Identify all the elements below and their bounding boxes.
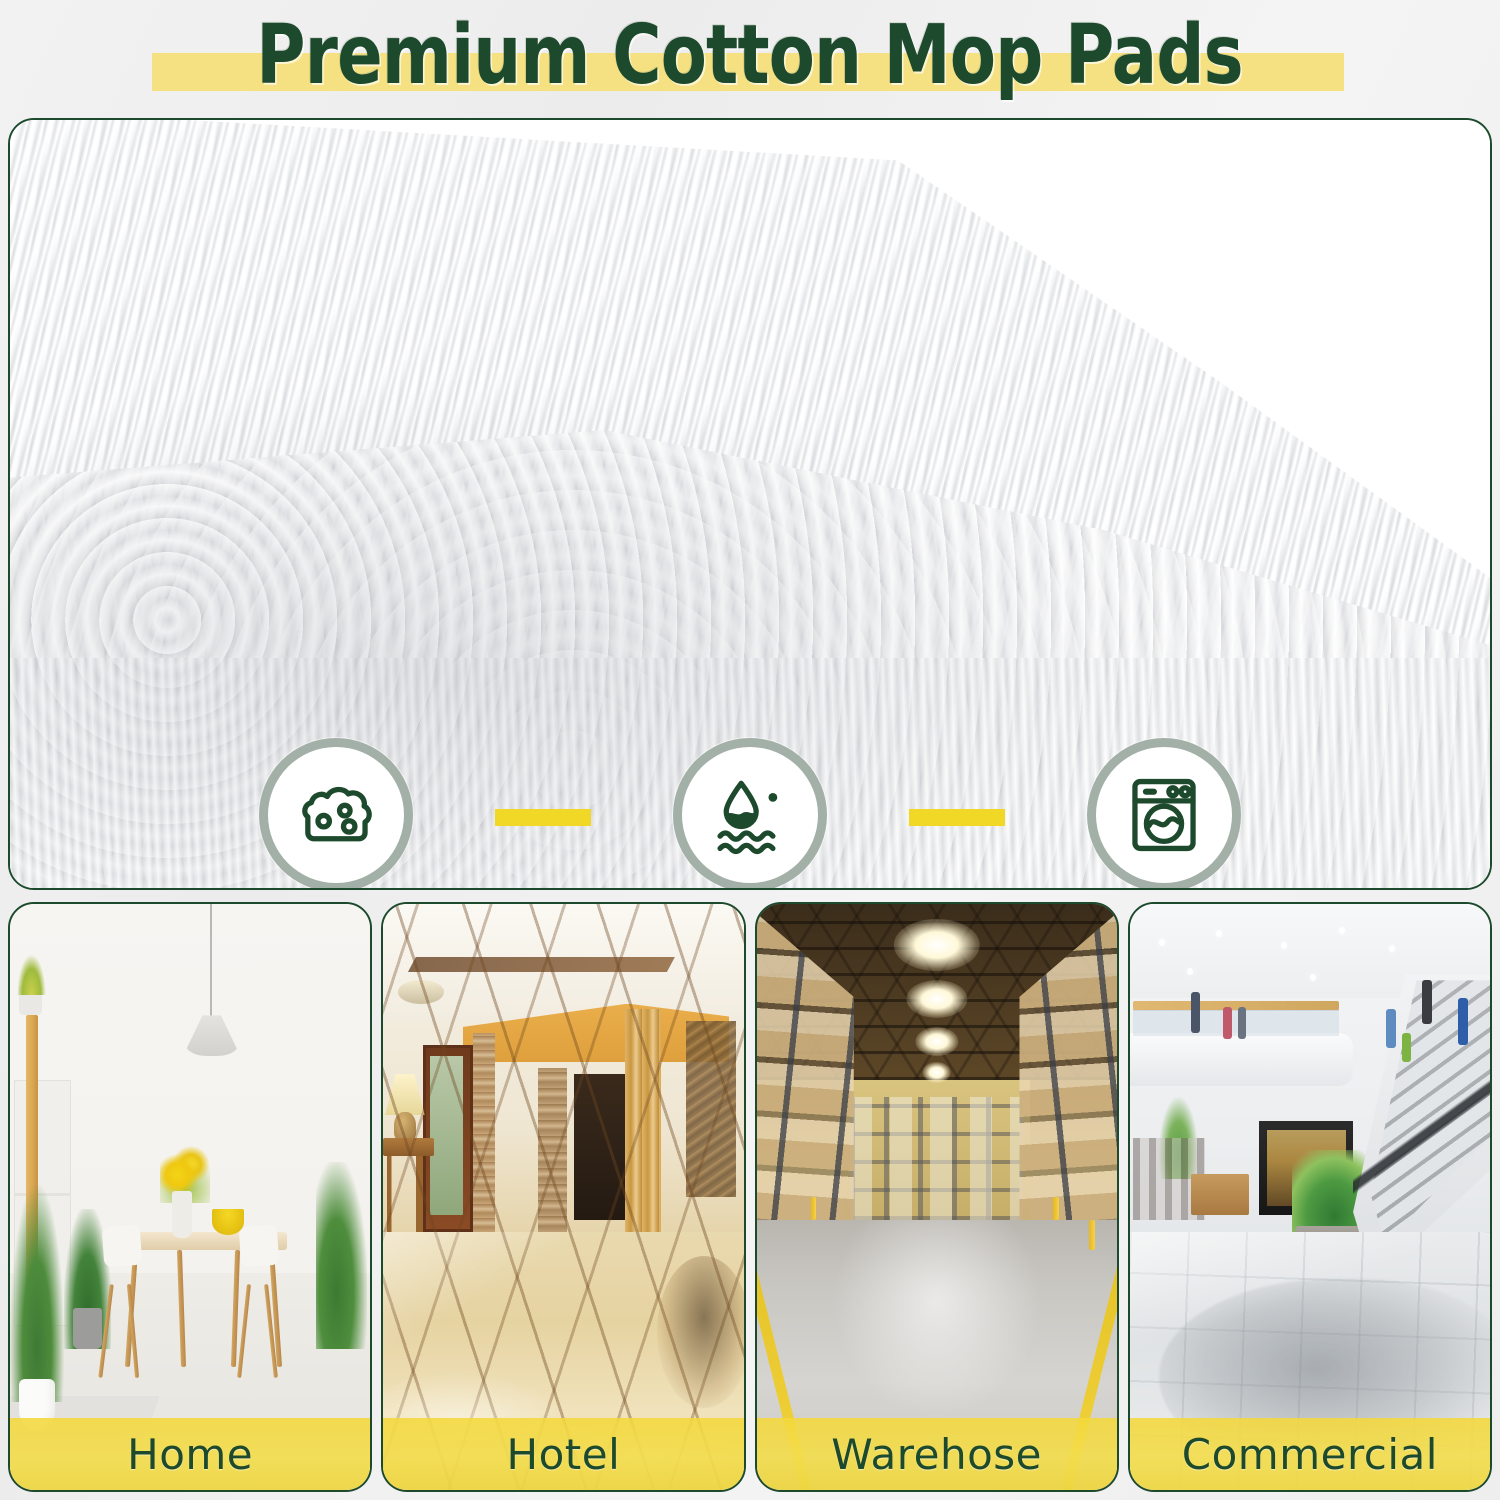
feature-machine-washable: Machine washable (1005, 738, 1323, 890)
hero-product-panel: Strong adiorption capacity Strong water … (8, 118, 1492, 890)
use-case-panel-warehouse: Warehose (755, 902, 1119, 1492)
connector-dash-2 (909, 809, 1005, 826)
page-title: Premium Cotton Mop Pads (257, 13, 1244, 99)
use-case-label-warehouse: Warehose (757, 1418, 1117, 1490)
use-case-label-hotel: Hotel (383, 1418, 743, 1490)
scene-shopping-mall (1130, 904, 1490, 1490)
use-case-panel-commercial: Commercial (1128, 902, 1492, 1492)
feature-badge-circle-1 (259, 738, 413, 890)
use-case-label-home: Home (10, 1418, 370, 1490)
connector-dash-1 (495, 809, 591, 826)
water-drop-waves-icon (706, 771, 794, 859)
scene-warehouse-aisle (757, 904, 1117, 1490)
use-case-label-commercial: Commercial (1130, 1418, 1490, 1490)
use-case-panel-row: Home Hotel (8, 902, 1492, 1492)
scene-dining-room (10, 904, 370, 1490)
feature-badge-row: Strong adiorption capacity Strong water … (10, 738, 1490, 890)
use-case-panel-home: Home (8, 902, 372, 1492)
page-title-banner: Premium Cotton Mop Pads (0, 0, 1500, 112)
feature-strong-water-absorption: Strong water absorption (591, 738, 909, 890)
feature-badge-circle-2 (673, 738, 827, 890)
feature-badge-circle-3 (1087, 738, 1241, 890)
washing-machine-icon (1120, 771, 1208, 859)
use-case-panel-hotel: Hotel (381, 902, 745, 1492)
feature-strong-adsorption: Strong adiorption capacity (177, 738, 495, 890)
sponge-icon (292, 771, 380, 859)
scene-hotel-lobby (383, 904, 743, 1490)
